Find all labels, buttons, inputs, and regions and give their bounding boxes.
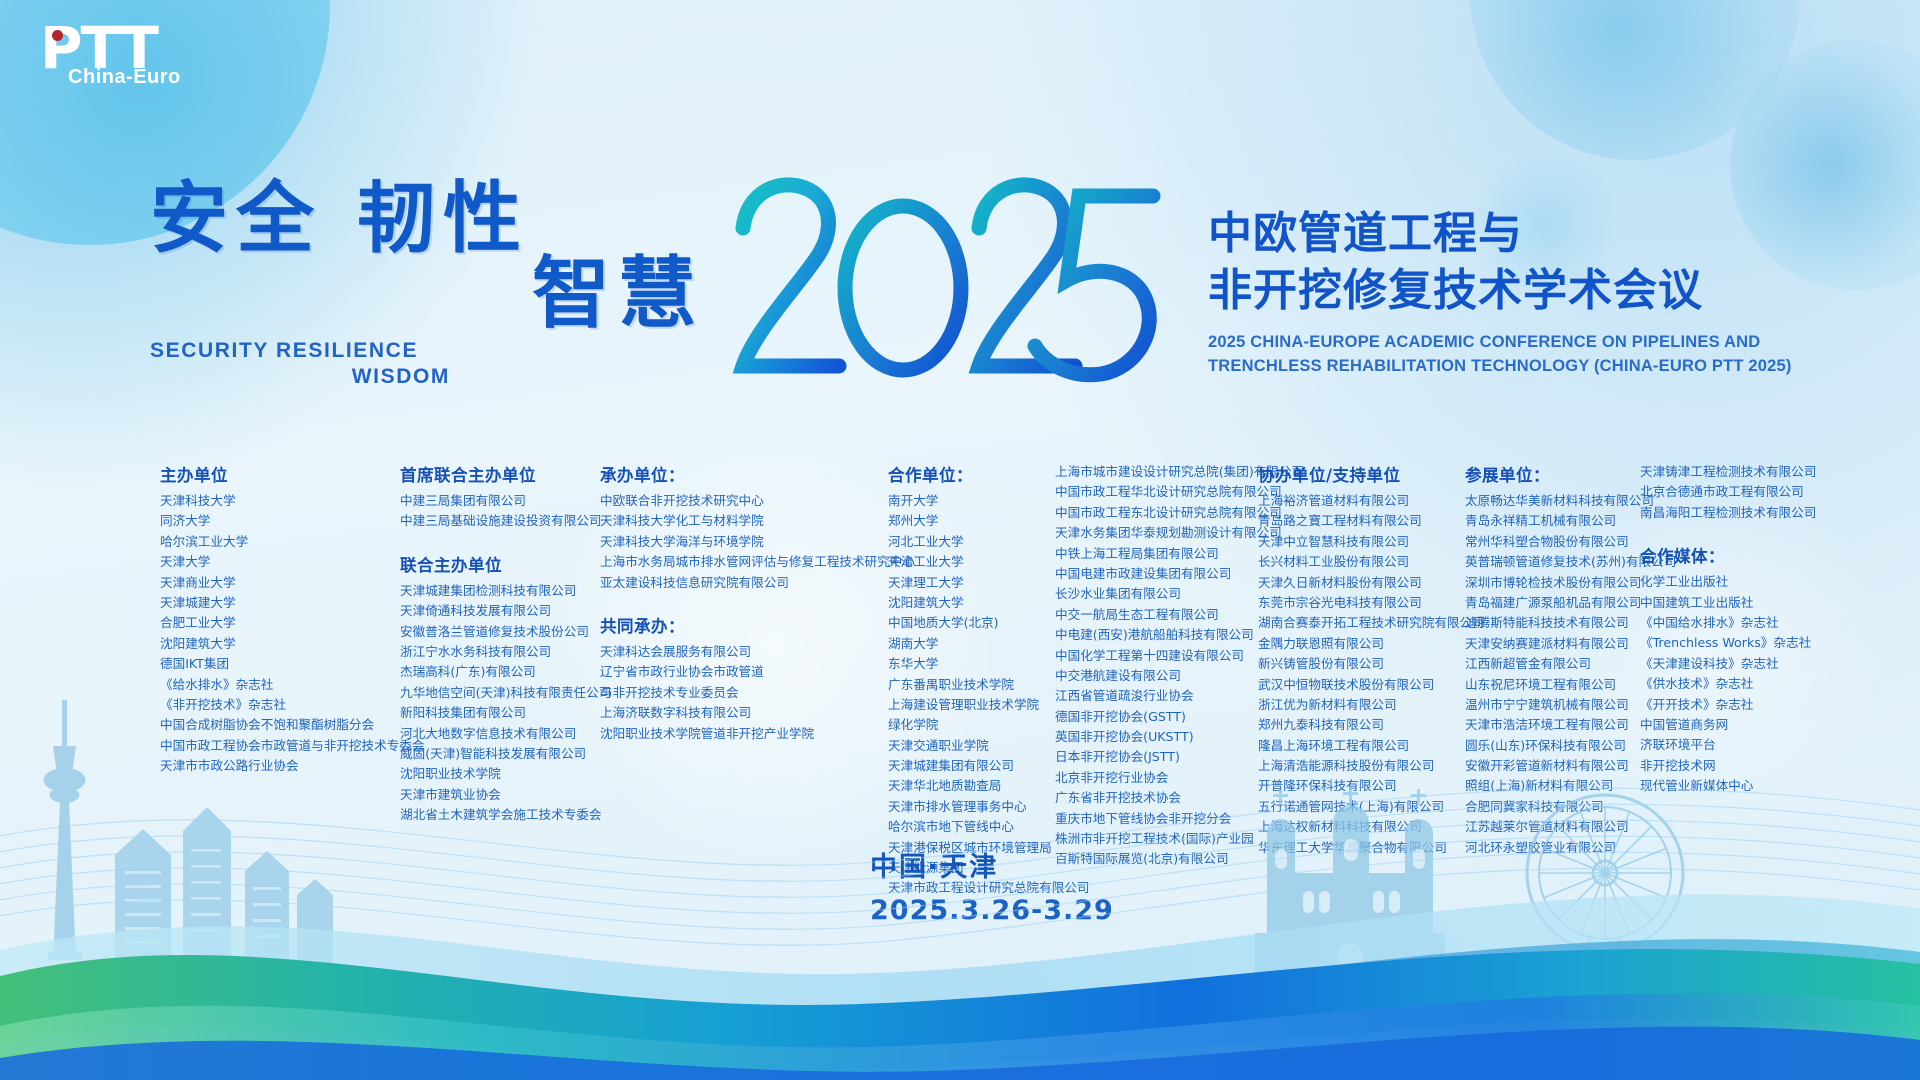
org-list-item: 绿化学院 (888, 715, 1063, 735)
org-list-item: 新兴铸管股份有限公司 (1258, 654, 1473, 674)
org-list-item: 沈阳建筑大学 (888, 593, 1063, 613)
org-list-item: 天津市浩洁环境工程有限公司 (1465, 715, 1660, 735)
org-list: 天津科技大学同济大学哈尔滨工业大学天津大学天津商业大学天津城建大学合肥工业大学沈… (160, 491, 375, 776)
org-list-item: 天津城建集团检测科技有限公司 (400, 581, 625, 601)
org-list-item: 北京合德通市政工程有限公司 (1640, 482, 1890, 502)
org-group-heading: 主办单位 (160, 462, 375, 486)
org-list: 天津铸津工程检测技术有限公司北京合德通市政工程有限公司南昌海阳工程检测技术有限公… (1640, 462, 1890, 523)
org-list-item: 温州市宁宁建筑机械有限公司 (1465, 695, 1660, 715)
org-list-item: 同济大学 (160, 511, 375, 531)
org-list-item: 太原畅达华美新材料科技有限公司 (1465, 491, 1660, 511)
org-list: 中建三局集团有限公司中建三局基础设施建设投资有限公司 (400, 491, 625, 532)
org-list-item: 天津科技大学 (160, 491, 375, 511)
org-list-item: 中欧联合非开挖技术研究中心 (600, 491, 850, 511)
title-en-line2: TRENCHLESS REHABILITATION TECHNOLOGY (CH… (1208, 355, 1848, 379)
org-list-item: 天津科技大学海洋与环境学院 (600, 532, 850, 552)
org-list-item: 上海裕济管道材料有限公司 (1258, 491, 1473, 511)
org-list-item: 天津大学 (160, 552, 375, 572)
headline-cn-line1: 安全 韧性 (150, 174, 529, 264)
org-list-item: 河北工业大学 (888, 532, 1063, 552)
org-list: 中欧联合非开挖技术研究中心天津科技大学化工与材料学院天津科技大学海洋与环境学院上… (600, 491, 850, 593)
org-list-item: 迪腾斯特能科技技术有限公司 (1465, 613, 1660, 633)
org-list-item: 南昌海阳工程检测技术有限公司 (1640, 503, 1890, 523)
org-list-item: 青岛路之寶工程材料有限公司 (1258, 511, 1473, 531)
org-list-item: 《开开技术》杂志社 (1640, 695, 1890, 715)
org-list-item: 安徽普洛兰管道修复技术股份公司 (400, 622, 625, 642)
org-list-item: 江西新超管金有限公司 (1465, 654, 1660, 674)
logo-subtitle: China-Euro (68, 66, 190, 89)
org-list-item: 广东番禺职业技术学院 (888, 675, 1063, 695)
org-group-heading: 合作媒体： (1640, 543, 1890, 567)
org-column-1: 主办单位天津科技大学同济大学哈尔滨工业大学天津大学天津商业大学天津城建大学合肥工… (160, 462, 375, 776)
org-list-item: 深圳市博轮检技术股份有限公司 (1465, 573, 1660, 593)
org-list-item: 与非开挖技术专业委员会 (600, 683, 850, 703)
org-list-item: 青岛福建广源泵船机品有限公司 (1465, 593, 1660, 613)
headline-block: 安全 韧性 智慧 SECURITY RESILIENCE WISDOM (150, 182, 790, 390)
org-list-item: 中国地质大学(北京) (888, 613, 1063, 633)
org-list-item: 东华大学 (888, 654, 1063, 674)
org-list-item: 常州华科塑合物股份有限公司 (1465, 532, 1660, 552)
decorative-wave-ribbon (0, 740, 1920, 1080)
org-list-item: 上海济联数字科技有限公司 (600, 703, 850, 723)
decor-blob-top-right (1470, 0, 1800, 160)
title-cn-line1: 中欧管道工程与 (1208, 205, 1848, 262)
org-list-item: 天津铸津工程检测技术有限公司 (1640, 462, 1890, 482)
headline-chinese: 安全 韧性 智慧 (150, 182, 790, 332)
org-list-item: 德国IKT集团 (160, 654, 375, 674)
org-list-item: 中建三局集团有限公司 (400, 491, 625, 511)
headline-cn-line2: 智慧 (150, 257, 790, 332)
org-list-item: 金隅力联恩照有限公司 (1258, 634, 1473, 654)
org-list-item: 上海市水务局城市排水管网评估与修复工程技术研究中心 (600, 552, 850, 572)
title-en-line1: 2025 CHINA-EUROPE ACADEMIC CONFERENCE ON… (1208, 331, 1848, 355)
headline-english: SECURITY RESILIENCE WISDOM (150, 338, 450, 391)
org-list-item: 亚太建设科技信息研究院有限公司 (600, 573, 850, 593)
org-list-item: 天津久日新材料股份有限公司 (1258, 573, 1473, 593)
org-list-item: 浙江优为新材料有限公司 (1258, 695, 1473, 715)
org-list-item: 天津倚通科技发展有限公司 (400, 601, 625, 621)
org-list-item: 天津科技大学化工与材料学院 (600, 511, 850, 531)
org-list-item: 中国建筑工业出版社 (1640, 593, 1890, 613)
org-list-item: 湖南合赛泰开拓工程技术研究院有限公司 (1258, 613, 1473, 633)
org-list-item: 青岛永祥精工机械有限公司 (1465, 511, 1660, 531)
org-list-item: 《非开挖技术》杂志社 (160, 695, 375, 715)
org-list-item: 东莞市宗谷光电科技有限公司 (1258, 593, 1473, 613)
org-list-item: 九华地信空间(天津)科技有限责任公司 (400, 683, 625, 703)
org-group-heading: 首席联合主办单位 (400, 462, 625, 486)
headline-en-line1: SECURITY RESILIENCE (150, 339, 418, 362)
org-list-item: 长兴材料工业股份有限公司 (1258, 552, 1473, 572)
org-group-heading: 共同承办： (600, 613, 850, 637)
org-list-item: 上海建设管理职业技术学院 (888, 695, 1063, 715)
org-list-item: 郑州九泰科技有限公司 (1258, 715, 1473, 735)
org-list-item: 《给水排水》杂志社 (160, 675, 375, 695)
ptt-logo: PTT China-Euro (40, 22, 190, 112)
org-list-item: 天津理工大学 (888, 573, 1063, 593)
org-list-item: 中建三局基础设施建设投资有限公司 (400, 511, 625, 531)
conference-title: 中欧管道工程与 非开挖修复技术学术会议 2025 CHINA-EUROPE AC… (1208, 205, 1848, 379)
org-list-item: 天津科达会展服务有限公司 (600, 642, 850, 662)
org-list-item: 辽宁省市政行业协会市政管道 (600, 662, 850, 682)
org-list-item: 新阳科技集团有限公司 (400, 703, 625, 723)
org-group-heading: 协办单位/支持单位 (1258, 462, 1473, 486)
title-cn-line2: 非开挖修复技术学术会议 (1208, 262, 1848, 319)
org-list-item: 合肥工业大学 (160, 613, 375, 633)
org-list-item: 武汉中恒物联技术股份有限公司 (1258, 675, 1473, 695)
logo-dot-icon (52, 30, 63, 41)
org-list-item: 《供水技术》杂志社 (1640, 674, 1890, 694)
org-list-item: 郑州大学 (888, 511, 1063, 531)
org-list-item: 中国管道商务网 (1640, 715, 1890, 735)
org-list-item: 英普瑞顿管道修复技术(苏州)有限公司 (1465, 552, 1660, 572)
org-list-item: 化学工业出版社 (1640, 572, 1890, 592)
org-list-item: 中国合成树脂协会不饱和聚酯树脂分会 (160, 715, 375, 735)
org-list-item: 《天津建设科技》杂志社 (1640, 654, 1890, 674)
poster-canvas: PTT China-Euro 安全 韧性 智慧 SECURITY RESILIE… (0, 0, 1920, 1080)
headline-en-line2: WISDOM (150, 364, 450, 390)
org-list: 天津科达会展服务有限公司辽宁省市政行业协会市政管道与非开挖技术专业委员会上海济联… (600, 642, 850, 744)
org-list-item: 山东祝尼环境工程有限公司 (1465, 675, 1660, 695)
title-en: 2025 CHINA-EUROPE ACADEMIC CONFERENCE ON… (1208, 331, 1848, 379)
org-group-heading: 参展单位： (1465, 462, 1660, 486)
org-column-3: 承办单位：中欧联合非开挖技术研究中心天津科技大学化工与材料学院天津科技大学海洋与… (600, 462, 850, 744)
org-list-item: 《中国给水排水》杂志社 (1640, 613, 1890, 633)
org-list-item: 天津商业大学 (160, 573, 375, 593)
org-list-item: 天津中立智慧科技有限公司 (1258, 532, 1473, 552)
org-list-item: 沈阳建筑大学 (160, 634, 375, 654)
org-list-item: 哈尔滨工业大学 (160, 532, 375, 552)
org-list-item: 湖南大学 (888, 634, 1063, 654)
org-group-heading: 承办单位： (600, 462, 850, 486)
org-list-item: 《Trenchless Works》杂志社 (1640, 633, 1890, 653)
year-2025-graphic (735, 170, 1165, 410)
org-group-heading: 合作单位： (888, 462, 1063, 486)
org-list-item: 天津安纳赛建派材料有限公司 (1465, 634, 1660, 654)
org-list-item: 天津城建大学 (160, 593, 375, 613)
org-group-heading: 联合主办单位 (400, 552, 625, 576)
org-list-item: 杰瑞高科(广东)有限公司 (400, 662, 625, 682)
org-list-item: 南开大学 (888, 491, 1063, 511)
org-list-item: 浙江宁水水务科技有限公司 (400, 642, 625, 662)
org-list-item: 天津工业大学 (888, 552, 1063, 572)
